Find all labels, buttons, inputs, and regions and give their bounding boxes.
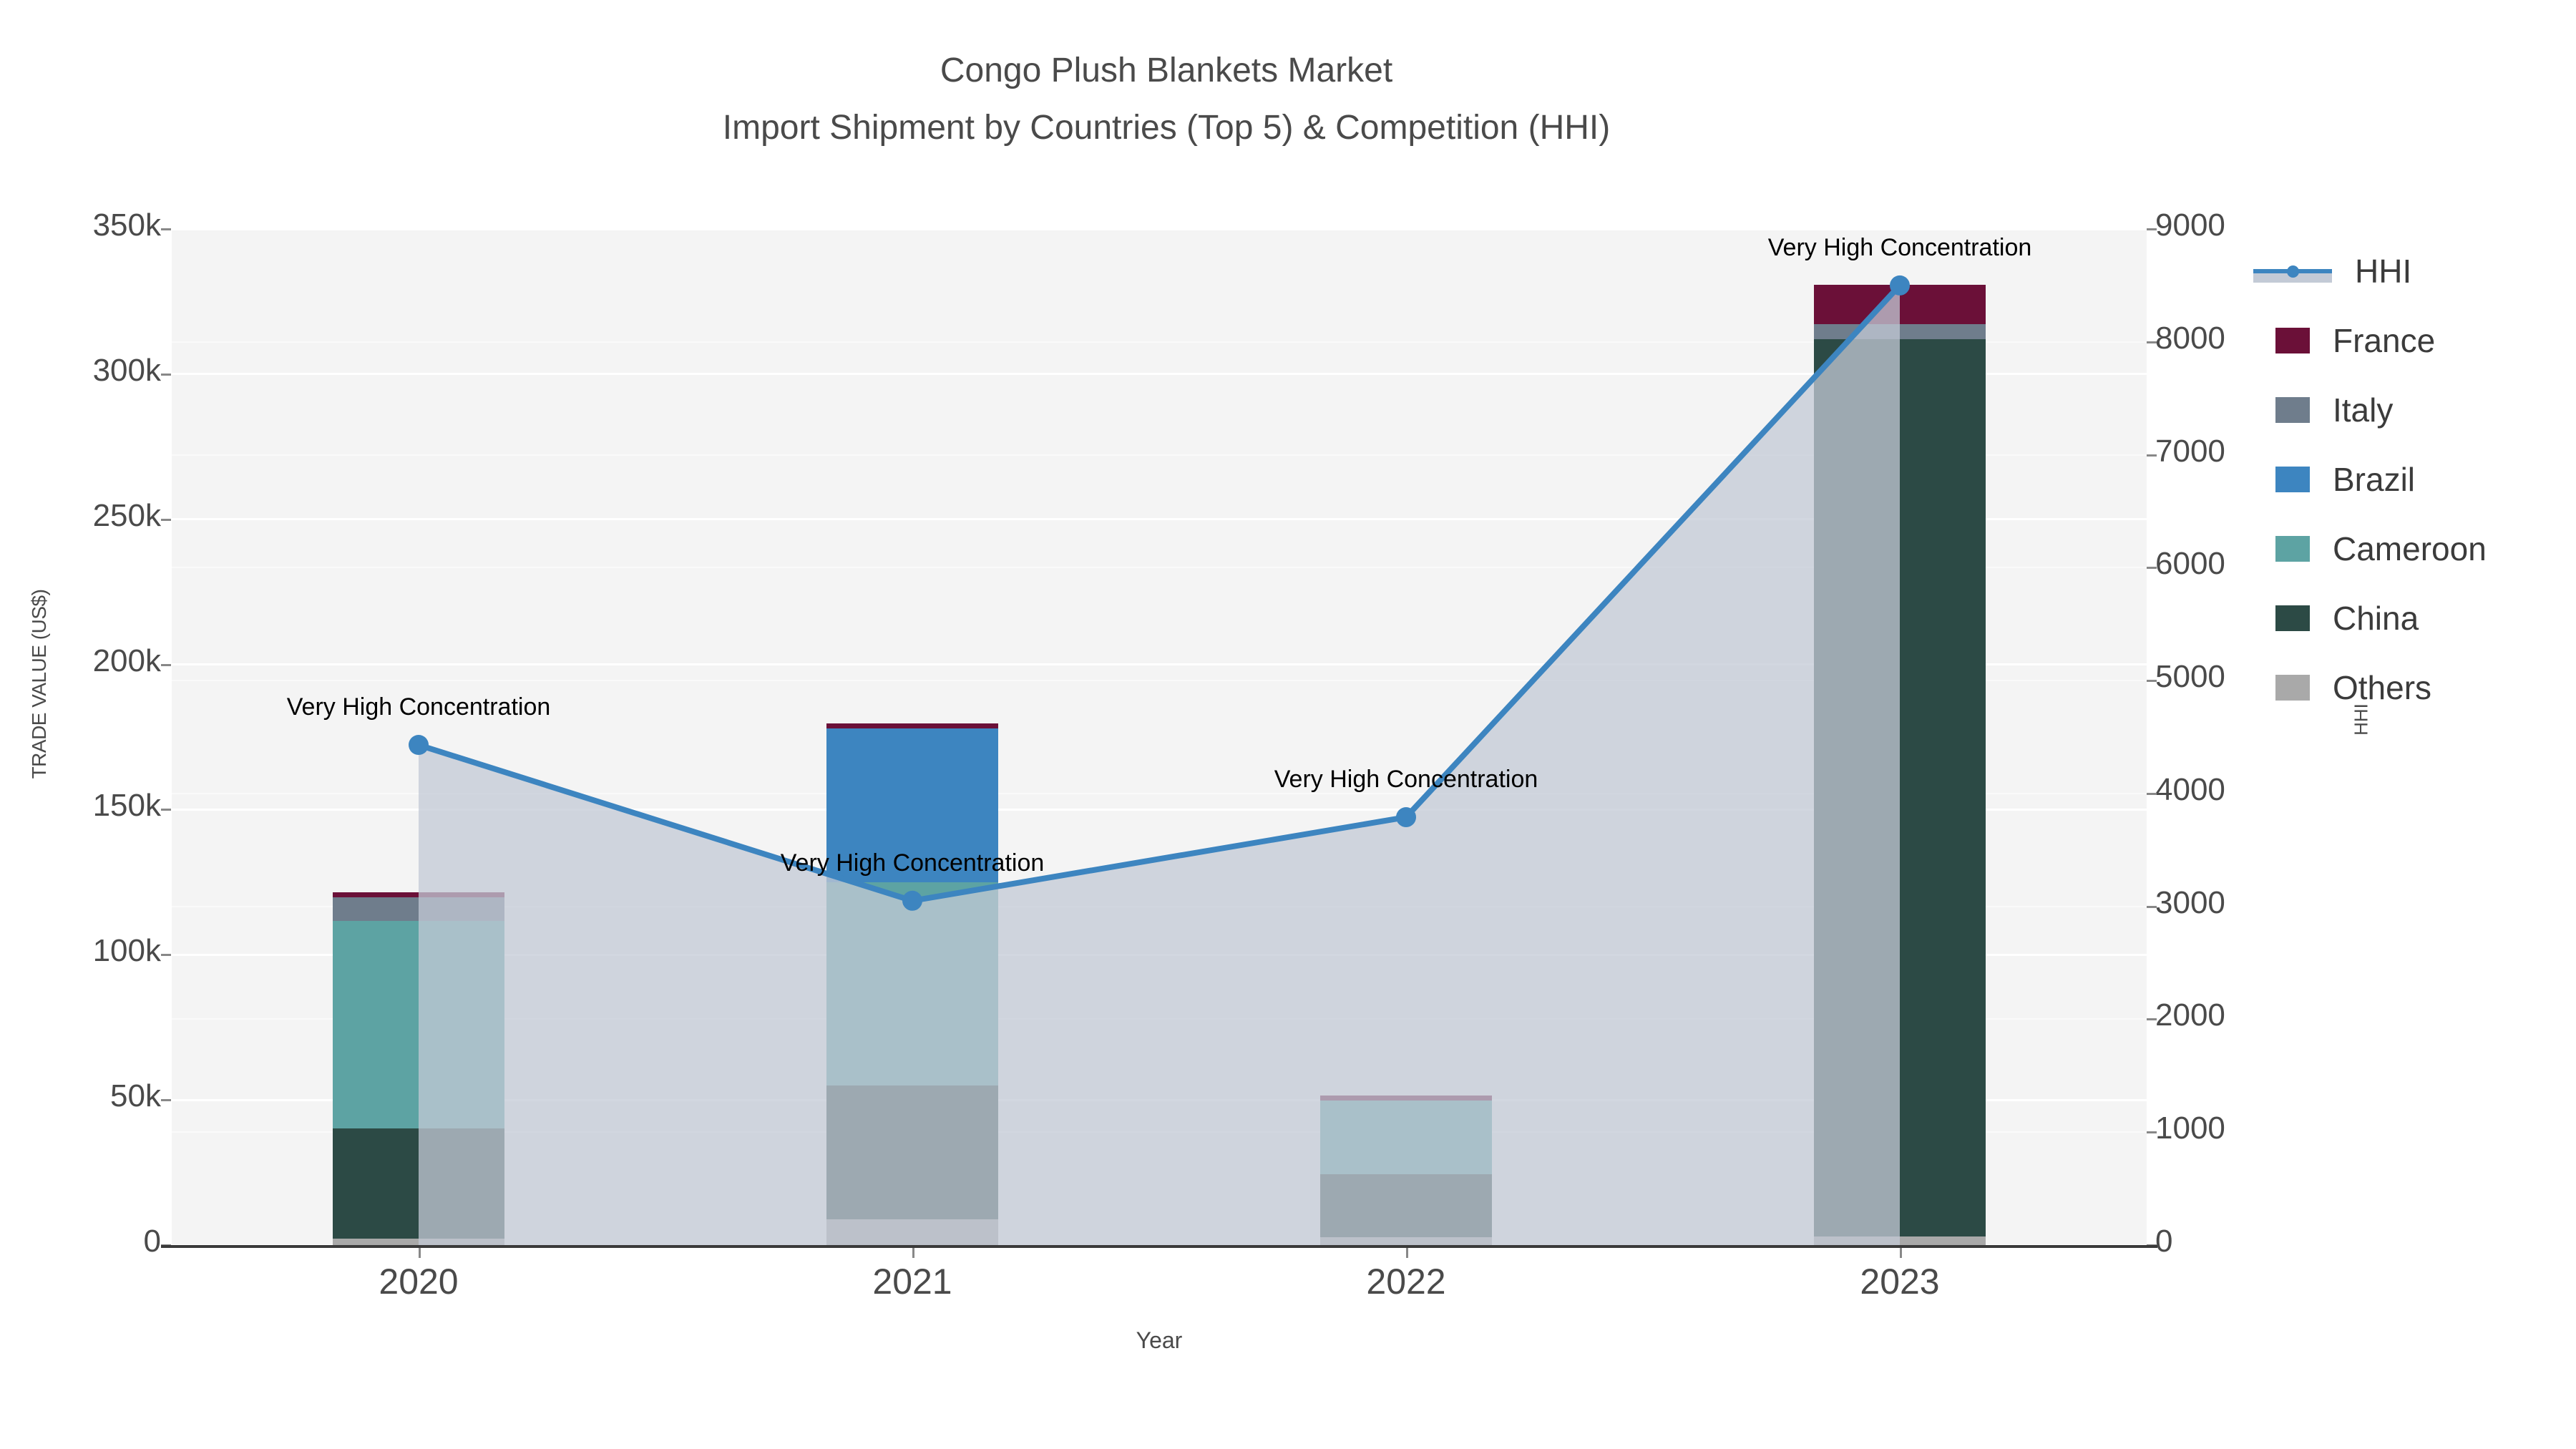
legend-label: Italy <box>2333 391 2393 429</box>
y-tick-text: 4000 <box>2155 772 2225 807</box>
y-tick-text: 6000 <box>2155 546 2225 581</box>
x-tick-mark <box>1900 1248 1902 1258</box>
y-tick-label-right: 1000 <box>2155 1111 2320 1146</box>
x-tick-label: 2020 <box>379 1261 458 1302</box>
legend-item-france[interactable]: France <box>2275 306 2487 375</box>
x-axis-baseline <box>161 1245 2157 1248</box>
hhi-area-fill <box>419 286 1900 1245</box>
y-tick-label-left: 0 <box>0 1224 161 1259</box>
legend-swatch-brazil <box>2275 467 2310 492</box>
hhi-data-point[interactable] <box>902 891 922 911</box>
y-tick-mark-left <box>161 664 171 666</box>
plot-area: Very High ConcentrationVery High Concent… <box>172 229 2147 1245</box>
legend-swatch-cameroon <box>2275 536 2310 562</box>
x-tick-mark <box>1406 1248 1408 1258</box>
y-tick-label-right: 4000 <box>2155 772 2320 808</box>
y-tick-text: 8000 <box>2155 321 2225 356</box>
x-tick-label: 2022 <box>1366 1261 1445 1302</box>
legend-swatch-others <box>2275 675 2310 701</box>
hhi-annotation: Very High Concentration <box>1274 766 1538 794</box>
chart-title: Congo Plush Blankets Market <box>0 54 2333 88</box>
y-tick-text: 5000 <box>2155 659 2225 694</box>
hhi-line-series <box>172 229 2147 1245</box>
legend-item-hhi[interactable]: HHI <box>2275 236 2487 306</box>
y-tick-text: 9000 <box>2155 208 2225 243</box>
legend: HHIFranceItalyBrazilCameroonChinaOthers <box>2275 236 2487 722</box>
hhi-data-point[interactable] <box>409 735 429 755</box>
y-tick-mark-right <box>2147 1131 2157 1133</box>
y-tick-mark-left <box>161 519 171 521</box>
y-tick-text: 0 <box>144 1224 161 1259</box>
hhi-annotation: Very High Concentration <box>287 693 551 721</box>
y-tick-text: 250k <box>93 498 161 533</box>
y-tick-mark-right <box>2147 341 2157 343</box>
chart-subtitle: Import Shipment by Countries (Top 5) & C… <box>0 111 2333 145</box>
x-tick-mark <box>419 1248 421 1258</box>
legend-label: France <box>2333 321 2435 360</box>
legend-item-others[interactable]: Others <box>2275 653 2487 722</box>
legend-item-china[interactable]: China <box>2275 583 2487 653</box>
legend-label: Cameroon <box>2333 530 2487 568</box>
legend-item-cameroon[interactable]: Cameroon <box>2275 514 2487 583</box>
y-tick-mark-right <box>2147 906 2157 908</box>
y-tick-label-right: 3000 <box>2155 885 2320 921</box>
y-tick-label-left: 150k <box>0 788 161 824</box>
legend-label: Brazil <box>2333 460 2415 499</box>
legend-line-icon <box>2253 258 2332 284</box>
y-axis-label-left: TRADE VALUE (US$) <box>28 548 51 820</box>
legend-swatch-china <box>2275 605 2310 631</box>
y-tick-label-left: 300k <box>0 353 161 389</box>
chart-canvas: Congo Plush Blankets Market Import Shipm… <box>0 0 2576 1449</box>
hhi-data-point[interactable] <box>1890 275 1910 296</box>
y-tick-mark-left <box>161 809 171 811</box>
x-tick-label: 2023 <box>1860 1261 1939 1302</box>
y-tick-text: 100k <box>93 933 161 968</box>
y-tick-text: 0 <box>2155 1224 2172 1259</box>
y-tick-text: 350k <box>93 208 161 243</box>
y-tick-mark-left <box>161 1099 171 1101</box>
legend-swatch-italy <box>2275 397 2310 423</box>
hhi-data-point[interactable] <box>1396 807 1416 827</box>
y-tick-text: 300k <box>93 353 161 388</box>
y-tick-label-right: 0 <box>2155 1224 2320 1259</box>
y-tick-mark-left <box>161 954 171 956</box>
y-tick-text: 2000 <box>2155 997 2225 1033</box>
y-tick-mark-right <box>2147 454 2157 457</box>
y-tick-mark-right <box>2147 793 2157 795</box>
legend-item-brazil[interactable]: Brazil <box>2275 444 2487 514</box>
y-tick-label-right: 2000 <box>2155 997 2320 1033</box>
y-tick-text: 200k <box>93 643 161 678</box>
x-axis-label: Year <box>172 1327 2147 1354</box>
y-tick-text: 50k <box>110 1078 161 1113</box>
y-tick-label-left: 100k <box>0 933 161 969</box>
x-tick-label: 2021 <box>872 1261 952 1302</box>
y-tick-label-left: 250k <box>0 498 161 534</box>
chart-title-block: Congo Plush Blankets Market Import Shipm… <box>0 54 2333 145</box>
y-tick-mark-left <box>161 374 171 376</box>
legend-item-italy[interactable]: Italy <box>2275 375 2487 444</box>
hhi-annotation: Very High Concentration <box>1768 234 2032 262</box>
y-tick-mark-right <box>2147 1018 2157 1020</box>
legend-label: HHI <box>2355 252 2411 291</box>
y-tick-label-left: 350k <box>0 208 161 243</box>
y-tick-text: 7000 <box>2155 434 2225 469</box>
y-tick-label-left: 200k <box>0 643 161 679</box>
y-tick-text: 150k <box>93 788 161 823</box>
y-tick-label-left: 50k <box>0 1078 161 1114</box>
legend-label: Others <box>2333 668 2431 707</box>
y-tick-mark-right <box>2147 680 2157 682</box>
y-tick-mark-right <box>2147 228 2157 230</box>
x-tick-mark <box>912 1248 914 1258</box>
y-tick-mark-left <box>161 228 171 230</box>
legend-label: China <box>2333 599 2419 638</box>
y-tick-text: 3000 <box>2155 885 2225 920</box>
hhi-annotation: Very High Concentration <box>781 849 1045 877</box>
y-tick-mark-right <box>2147 567 2157 569</box>
legend-swatch-france <box>2275 328 2310 353</box>
y-tick-text: 1000 <box>2155 1111 2225 1146</box>
